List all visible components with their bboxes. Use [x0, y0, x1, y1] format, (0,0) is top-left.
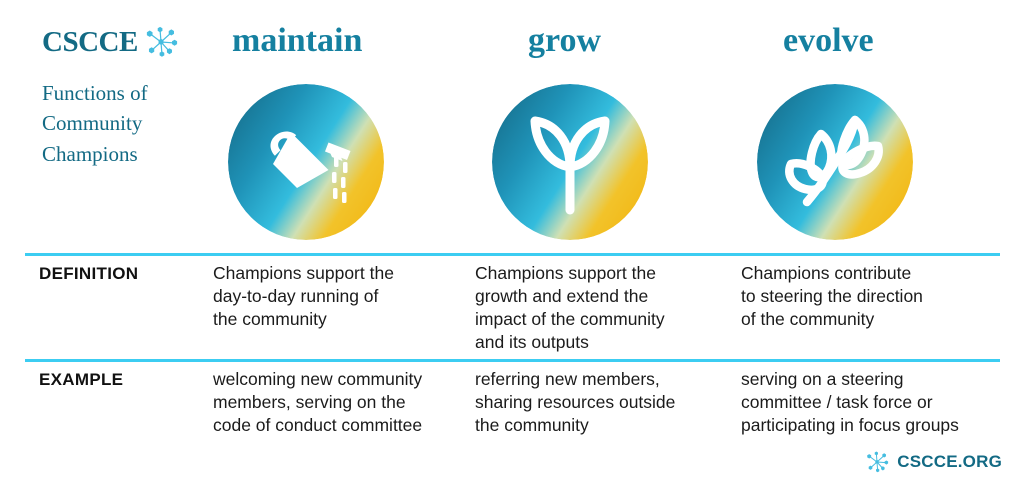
cell-example-grow: referring new members, sharing resources… [475, 368, 733, 437]
cell-line: serving on a steering [741, 368, 1007, 391]
infographic-page: CSCCE [0, 0, 1020, 484]
cell-line: day-to-day running of [213, 285, 471, 308]
brand-subtitle: Functions of Community Champions [42, 78, 212, 169]
cell-line: Champions support the [475, 262, 733, 285]
brand-subtitle-line-1: Functions of [42, 78, 212, 108]
cell-line: Champions contribute [741, 262, 1007, 285]
cell-definition-grow: Champions support the growth and extend … [475, 262, 733, 354]
cell-line: and its outputs [475, 331, 733, 354]
divider-example [25, 359, 1000, 362]
branch-leaves-icon [757, 84, 913, 240]
cell-line: impact of the community [475, 308, 733, 331]
cell-line: welcoming new community [213, 368, 471, 391]
footer-url-text: CSCCE.ORG [897, 452, 1002, 472]
brand-subtitle-line-3: Champions [42, 139, 212, 169]
watering-can-icon [228, 84, 384, 240]
row-label-definition: DEFINITION [39, 264, 214, 284]
cell-line: the community [213, 308, 471, 331]
sprout-icon [492, 84, 648, 240]
brand-subtitle-line-2: Community [42, 108, 212, 138]
divider-definition [25, 253, 1000, 256]
cell-line: the community [475, 414, 733, 437]
brand-block: CSCCE [42, 26, 212, 169]
cell-line: to steering the direction [741, 285, 1007, 308]
cell-line: of the community [741, 308, 1007, 331]
brand-logo: CSCCE [42, 26, 212, 58]
icon-circle-maintain [228, 84, 384, 240]
column-heading-evolve: evolve [783, 24, 874, 58]
footer-logo[interactable]: CSCCE.ORG [864, 450, 1002, 474]
network-nodes-icon [142, 26, 180, 58]
cell-line: referring new members, [475, 368, 733, 391]
cell-example-evolve: serving on a steering committee / task f… [741, 368, 1007, 437]
brand-name: CSCCE [42, 28, 138, 57]
column-heading-grow: grow [528, 24, 601, 58]
icon-circle-grow [492, 84, 648, 240]
column-heading-maintain: maintain [232, 24, 362, 58]
cell-line: growth and extend the [475, 285, 733, 308]
cell-definition-maintain: Champions support the day-to-day running… [213, 262, 471, 331]
cell-line: sharing resources outside [475, 391, 733, 414]
cell-line: committee / task force or [741, 391, 1007, 414]
network-nodes-icon [864, 450, 890, 474]
row-label-example: EXAMPLE [39, 370, 214, 390]
cell-line: Champions support the [213, 262, 471, 285]
icon-circle-evolve [757, 84, 913, 240]
cell-line: code of conduct committee [213, 414, 471, 437]
cell-example-maintain: welcoming new community members, serving… [213, 368, 471, 437]
cell-definition-evolve: Champions contribute to steering the dir… [741, 262, 1007, 331]
cell-line: members, serving on the [213, 391, 471, 414]
cell-line: participating in focus groups [741, 414, 1007, 437]
